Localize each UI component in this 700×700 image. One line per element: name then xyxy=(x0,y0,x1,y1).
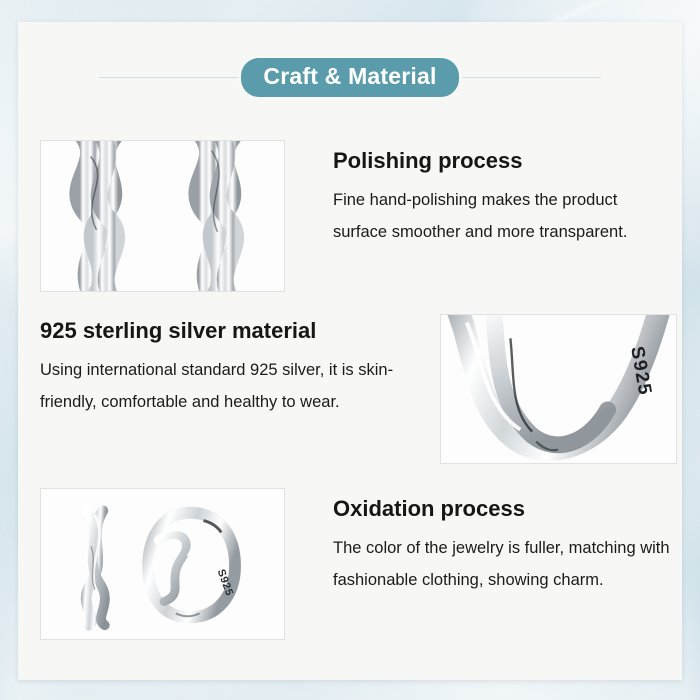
page-title-badge: Craft & Material xyxy=(241,58,458,97)
product-image-material: S925 xyxy=(440,314,677,464)
feature-body: Using international standard 925 silver,… xyxy=(40,355,418,418)
feature-heading: Polishing process xyxy=(333,148,663,173)
feature-text-polishing: Polishing process Fine hand-polishing ma… xyxy=(333,140,663,249)
product-image-oxidation: S925 xyxy=(40,488,285,640)
feature-text-material: 925 sterling silver material Using inter… xyxy=(40,314,418,419)
feature-body: Fine hand-polishing makes the product su… xyxy=(333,185,663,248)
hoop-hallmark-artwork: S925 xyxy=(441,315,676,463)
background-texture: Craft & Material xyxy=(0,0,700,700)
earring-pair-artwork: S925 xyxy=(41,489,284,639)
content-card: Craft & Material xyxy=(18,22,682,680)
feature-heading: Oxidation process xyxy=(333,496,671,521)
twisted-bands-artwork xyxy=(41,141,284,291)
feature-row-polishing: Polishing process Fine hand-polishing ma… xyxy=(40,140,663,292)
product-image-polishing xyxy=(40,140,285,292)
section-title-row: Craft & Material xyxy=(18,58,682,97)
divider-left xyxy=(99,77,241,78)
feature-row-oxidation: S925 Oxidation process The color of the … xyxy=(40,488,671,640)
feature-row-material: 925 sterling silver material Using inter… xyxy=(40,314,677,464)
divider-right xyxy=(459,77,601,78)
feature-text-oxidation: Oxidation process The color of the jewel… xyxy=(333,488,671,597)
feature-body: The color of the jewelry is fuller, matc… xyxy=(333,533,671,596)
feature-heading: 925 sterling silver material xyxy=(40,318,418,343)
